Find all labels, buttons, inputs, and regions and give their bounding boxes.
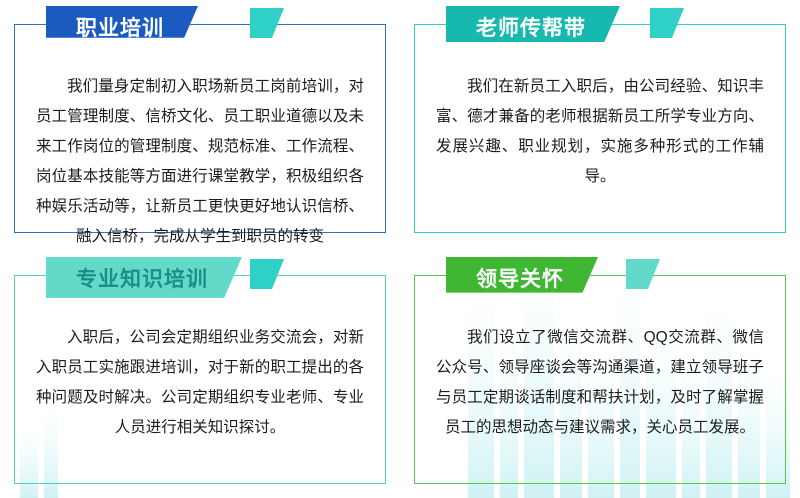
card-professional-knowledge-training: 专业知识培训 入职后，公司会定期组织业务交流会，对新入职员工实施跟进培训，对于新…	[14, 257, 386, 492]
card-body-text: 我们量身定制初入职场新员工岗前培训，对员工管理制度、信桥文化、员工职业道德以及未…	[14, 58, 386, 227]
card-title: 领导关怀	[476, 257, 564, 303]
card-title: 专业知识培训	[76, 257, 208, 303]
card-title-ribbon: 专业知识培训	[46, 257, 242, 303]
card-title-ribbon: 职业培训	[46, 6, 198, 52]
card-leadership-care: 领导关怀 我们设立了微信交流群、QQ交流群、微信公众号、领导座谈会等沟通渠道，建…	[414, 257, 786, 492]
card-title: 老师传帮带	[476, 6, 586, 52]
card-title-ribbon: 老师传帮带	[446, 6, 620, 52]
ribbon-tail-decoration	[250, 259, 284, 289]
card-title: 职业培训	[76, 6, 164, 52]
card-body-text: 我们设立了微信交流群、QQ交流群、微信公众号、领导座谈会等沟通渠道，建立领导班子…	[414, 309, 786, 478]
card-body-text: 我们在新员工入职后，由公司经验、知识丰富、德才兼备的老师根据新员工所学专业方向、…	[414, 58, 786, 227]
card-title-ribbon: 领导关怀	[446, 257, 598, 303]
card-mentorship: 老师传帮带 我们在新员工入职后，由公司经验、知识丰富、德才兼备的老师根据新员工所…	[414, 6, 786, 241]
card-vocational-training: 职业培训 我们量身定制初入职场新员工岗前培训，对员工管理制度、信桥文化、员工职业…	[14, 6, 386, 241]
ribbon-tail-decoration	[250, 8, 284, 38]
card-body-text: 入职后，公司会定期组织业务交流会，对新入职员工实施跟进培训，对于新的职工提出的各…	[14, 309, 386, 478]
ribbon-tail-decoration	[650, 8, 684, 38]
ribbon-tail-decoration	[626, 259, 660, 289]
cards-grid: 职业培训 我们量身定制初入职场新员工岗前培训，对员工管理制度、信桥文化、员工职业…	[0, 0, 800, 498]
